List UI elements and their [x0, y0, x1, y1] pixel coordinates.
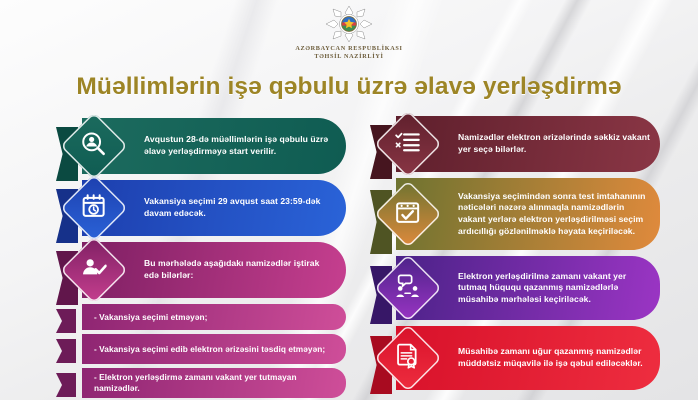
person-check-icon	[81, 255, 107, 286]
left-column: Avqustun 28-də müəllimlərin işə qəbulu ü…	[56, 118, 346, 400]
bullet-item: - Vakansiya seçimi edib elektron ərizəsi…	[56, 334, 346, 364]
interview-icon	[395, 273, 421, 304]
ministry-name: AZƏRBAYCAN RESPUBLİKASI TƏHSİL NAZİRLİYİ	[0, 45, 698, 62]
header-block: AZƏRBAYCAN RESPUBLİKASI TƏHSİL NAZİRLİYİ	[0, 4, 698, 62]
ministry-line-1: AZƏRBAYCAN RESPUBLİKASI	[0, 45, 698, 53]
bullet-text: - Elektron yerləşdirmə zamanı vakant yer…	[94, 372, 336, 393]
info-card: Namizədlər elektron ərizələrində səkkiz …	[370, 116, 660, 172]
bullet-ribbon-tail	[56, 309, 76, 333]
card-text: Vakansiya seçimi 29 avqust saat 23:59-də…	[144, 196, 336, 219]
bullet-body: - Vakansiya seçimi edib elektron ərizəsi…	[82, 334, 346, 364]
bullet-body: - Vakansiya seçimi etməyən;	[82, 304, 346, 330]
info-card: Vakansiya seçimindən sonra test imtahanı…	[370, 178, 660, 250]
bullet-text: - Vakansiya seçimi etməyən;	[94, 312, 207, 323]
card-text: Müsahibə zamanı uğur qazanmış namizədlər…	[458, 346, 650, 369]
checklist-icon	[395, 129, 421, 160]
person-search-icon	[81, 131, 107, 162]
card-text: Avqustun 28-də müəllimlərin işə qəbulu ü…	[144, 134, 336, 157]
info-card: Müsahibə zamanı uğur qazanmış namizədlər…	[370, 326, 660, 390]
infographic-canvas: AZƏRBAYCAN RESPUBLİKASI TƏHSİL NAZİRLİYİ…	[0, 0, 698, 400]
card-text: Namizədlər elektron ərizələrində səkkiz …	[458, 132, 650, 155]
ministry-line-2: TƏHSİL NAZİRLİYİ	[0, 53, 698, 61]
info-card: Vakansiya seçimi 29 avqust saat 23:59-də…	[56, 180, 346, 236]
clipboard-check-icon	[395, 199, 421, 230]
certificate-icon	[395, 343, 421, 374]
right-column: Namizədlər elektron ərizələrində səkkiz …	[370, 116, 660, 396]
info-card: Avqustun 28-də müəllimlərin işə qəbulu ü…	[56, 118, 346, 174]
calendar-clock-icon	[81, 193, 107, 224]
info-card: Bu mərhələdə aşağıdakı namizədlər iştira…	[56, 242, 346, 298]
bullet-ribbon-tail	[56, 373, 76, 397]
card-text: Elektron yerləşdirilmə zamanı vakant yer…	[458, 271, 650, 306]
card-text: Bu mərhələdə aşağıdakı namizədlər iştira…	[144, 258, 336, 281]
bullet-body: - Elektron yerləşdirmə zamanı vakant yer…	[82, 368, 346, 398]
card-text: Vakansiya seçimindən sonra test imtahanı…	[458, 191, 650, 237]
page-title: Müəllimlərin işə qəbulu üzrə əlavə yerlə…	[0, 73, 698, 101]
bullet-item: - Elektron yerləşdirmə zamanı vakant yer…	[56, 368, 346, 398]
bullet-text: - Vakansiya seçimi edib elektron ərizəsi…	[94, 344, 325, 355]
azerbaijan-state-emblem-icon	[0, 4, 698, 44]
info-card: Elektron yerləşdirilmə zamanı vakant yer…	[370, 256, 660, 320]
bullet-ribbon-tail	[56, 339, 76, 363]
bullet-item: - Vakansiya seçimi etməyən;	[56, 304, 346, 330]
